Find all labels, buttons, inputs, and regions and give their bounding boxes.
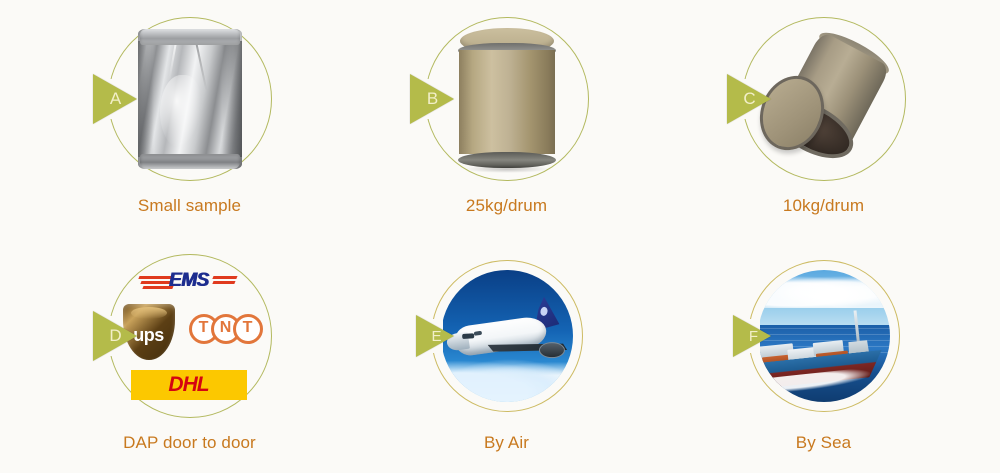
courier-logos-group: EMS ups T N T [115,270,265,402]
pouch-right-shading [222,41,242,157]
caption-small-sample: Small sample [23,196,356,216]
sea-cloud-layer [758,274,890,308]
panel-b-stage: B [340,14,673,184]
airplane-engine [538,342,564,358]
pouch-top-seal [140,29,240,45]
open-fiber-drum-image [759,39,889,159]
arrow-marker-a [93,74,137,124]
caption-25kg-drum: 25kg/drum [340,196,673,216]
pouch-highlight [160,75,202,149]
ems-logo: EMS [139,270,237,294]
panel-a-stage: A [23,14,356,184]
pouch-bottom-seal [140,154,240,169]
arrow-marker-f [733,315,771,357]
arrow-marker-c [727,74,771,124]
panel-e-stage: E [340,251,673,421]
container-ship-shape [758,315,890,395]
tnt-letter-3: T [233,319,263,337]
tnt-logo: T N T [189,314,265,346]
panel-25kg-drum[interactable]: B 25kg/drum [340,0,673,236]
panel-d-stage: EMS ups T N T [23,251,356,421]
pouch-left-shading [138,41,154,157]
arrow-marker-b [410,74,454,124]
panel-10kg-drum[interactable]: C 10kg/drum [657,0,990,236]
drum-shadow [464,165,550,173]
arrow-marker-d [93,311,137,361]
panel-by-sea[interactable]: F By Sea [657,237,990,473]
silver-foil-pouch-image [138,29,242,169]
caption-10kg-drum: 10kg/drum [657,196,990,216]
caption-by-air: By Air [340,433,673,453]
panel-by-air[interactable]: E By Air [340,237,673,473]
airplane-cockpit-window [462,333,474,339]
caption-by-sea: By Sea [657,433,990,453]
panel-f-stage: F [657,251,990,421]
dhl-logo: DHL [131,370,247,400]
container-ship-photo [758,270,890,402]
dhl-logo-text: DHL [168,373,208,397]
panel-c-stage: C [657,14,990,184]
panel-dap-door-to-door[interactable]: EMS ups T N T [23,237,356,473]
closed-fiber-drum-image [458,28,556,170]
caption-dap-door-to-door: DAP door to door [23,433,356,453]
drum-barrel [459,50,555,154]
cargo-airplane-photo [441,270,573,402]
ems-logo-text: EMS [166,270,212,292]
panel-small-sample[interactable]: A Small sample [23,0,356,236]
arrow-marker-e [416,315,454,357]
packaging-and-shipping-board: A Small sample B 25kg/drum [0,0,1000,473]
